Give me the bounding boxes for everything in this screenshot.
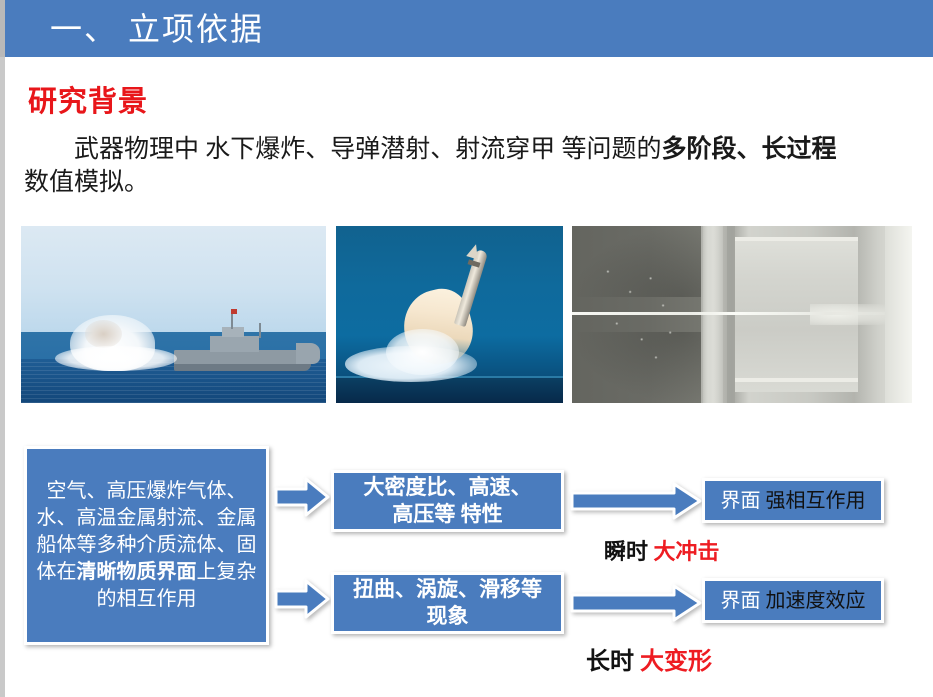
flow-mid-bot-line2: 现象 [427,604,469,628]
photo1-ship-hull-lower [174,364,311,371]
body-paragraph: 武器物理中 水下爆炸、导弹潜射、射流穿甲 等问题的多阶段、长过程 数值模拟。 [24,133,909,199]
photo-jet-penetration-radiograph [572,226,912,403]
slide-left-edge-strip-lower [0,57,5,697]
annotation-long-label: 长时 [586,649,634,675]
flow-right-bot-black: 加速度效应 [766,590,866,612]
photo1-ship-bow [296,343,320,364]
flow-right-top-white: 界面 [721,490,761,512]
arrow-middle-top-to-right-top [570,482,702,520]
flow-box-media-interaction-text: 空气、高压爆炸气体、水、高温金属射流、金属船体等多种介质流体、固体在清晰物质界面… [34,478,259,613]
paragraph-text-normal: 武器物理中 水下爆炸、导弹潜射、射流穿甲 等问题的 [74,136,662,163]
flow-box-media-interaction: 空气、高压爆炸气体、水、高温金属射流、金属船体等多种介质流体、固体在清晰物质界面… [24,446,269,645]
photo-underwater-explosion-warship [21,226,326,403]
flow-box-phenomena: 扭曲、涡旋、滑移等 现象 [331,572,564,634]
slide: 一、 立项依据 研究背景 武器物理中 水下爆炸、导弹潜射、射流穿甲 等问题的多阶… [0,0,933,697]
photo1-ship-superstructure [210,336,259,352]
annotation-instant-impact: 瞬时 大冲击 [604,534,720,566]
flow-box-characteristics-text: 大密度比、高速、 高压等 特性 [364,474,532,528]
flow-box-strong-interaction: 界面 强相互作用 [702,478,884,523]
photo-submarine-launched-missile [336,226,563,403]
paragraph-text-bold: 多阶段、长过程 [662,136,837,163]
flow-mid-top-line2: 高压等 特性 [392,502,502,526]
photo2-plume-base [386,329,459,375]
photo1-ship-flag [231,309,237,314]
photo1-explosion-spray [55,346,177,371]
photo3-right-bright-edge [885,226,912,403]
flow-box-phenomena-text: 扭曲、涡旋、滑移等 现象 [353,576,542,630]
page-title: 一、 立项依据 [50,4,264,54]
flow-right-bot-white: 界面 [721,590,761,612]
flow-box-acceleration-effect-text: 界面 加速度效应 [721,589,866,613]
annotation-instant-value: 大冲击 [654,539,720,564]
photo3-target-edge-bottom [735,378,857,382]
flow-left-text-bold2: 面 [177,561,197,583]
annotation-long-deformation: 长时 大变形 [586,641,712,676]
flow-mid-top-line1: 大密度比、高速、 [364,475,532,499]
photo3-target-edge-top [735,237,857,241]
slide-header-bar: 一、 立项依据 [5,0,933,57]
photo1-ship-mast-aft [259,323,261,337]
photo3-jet-line [572,312,912,315]
flow-box-strong-interaction-text: 界面 强相互作用 [721,489,866,513]
flow-mid-bot-line1: 扭曲、涡旋、滑移等 [353,577,542,601]
flow-right-top-black: 强相互作用 [766,490,866,512]
photo1-explosion-debris [85,320,122,348]
arrow-middle-bottom-to-right-bottom [570,584,702,622]
arrow-left-to-middle-top [274,476,330,518]
paragraph-text-line2: 数值模拟。 [24,169,149,196]
flow-box-characteristics: 大密度比、高速、 高压等 特性 [331,470,564,532]
photo2-sea [336,378,563,403]
flow-left-text-bold: 清晰物质界 [77,561,177,583]
section-heading-research-background: 研究背景 [28,78,148,120]
flow-box-acceleration-effect: 界面 加速度效应 [702,578,884,623]
annotation-instant-label: 瞬时 [604,539,648,564]
photo1-sky [21,226,326,336]
arrow-left-to-middle-bottom [274,578,330,620]
annotation-long-value: 大变形 [640,649,712,675]
